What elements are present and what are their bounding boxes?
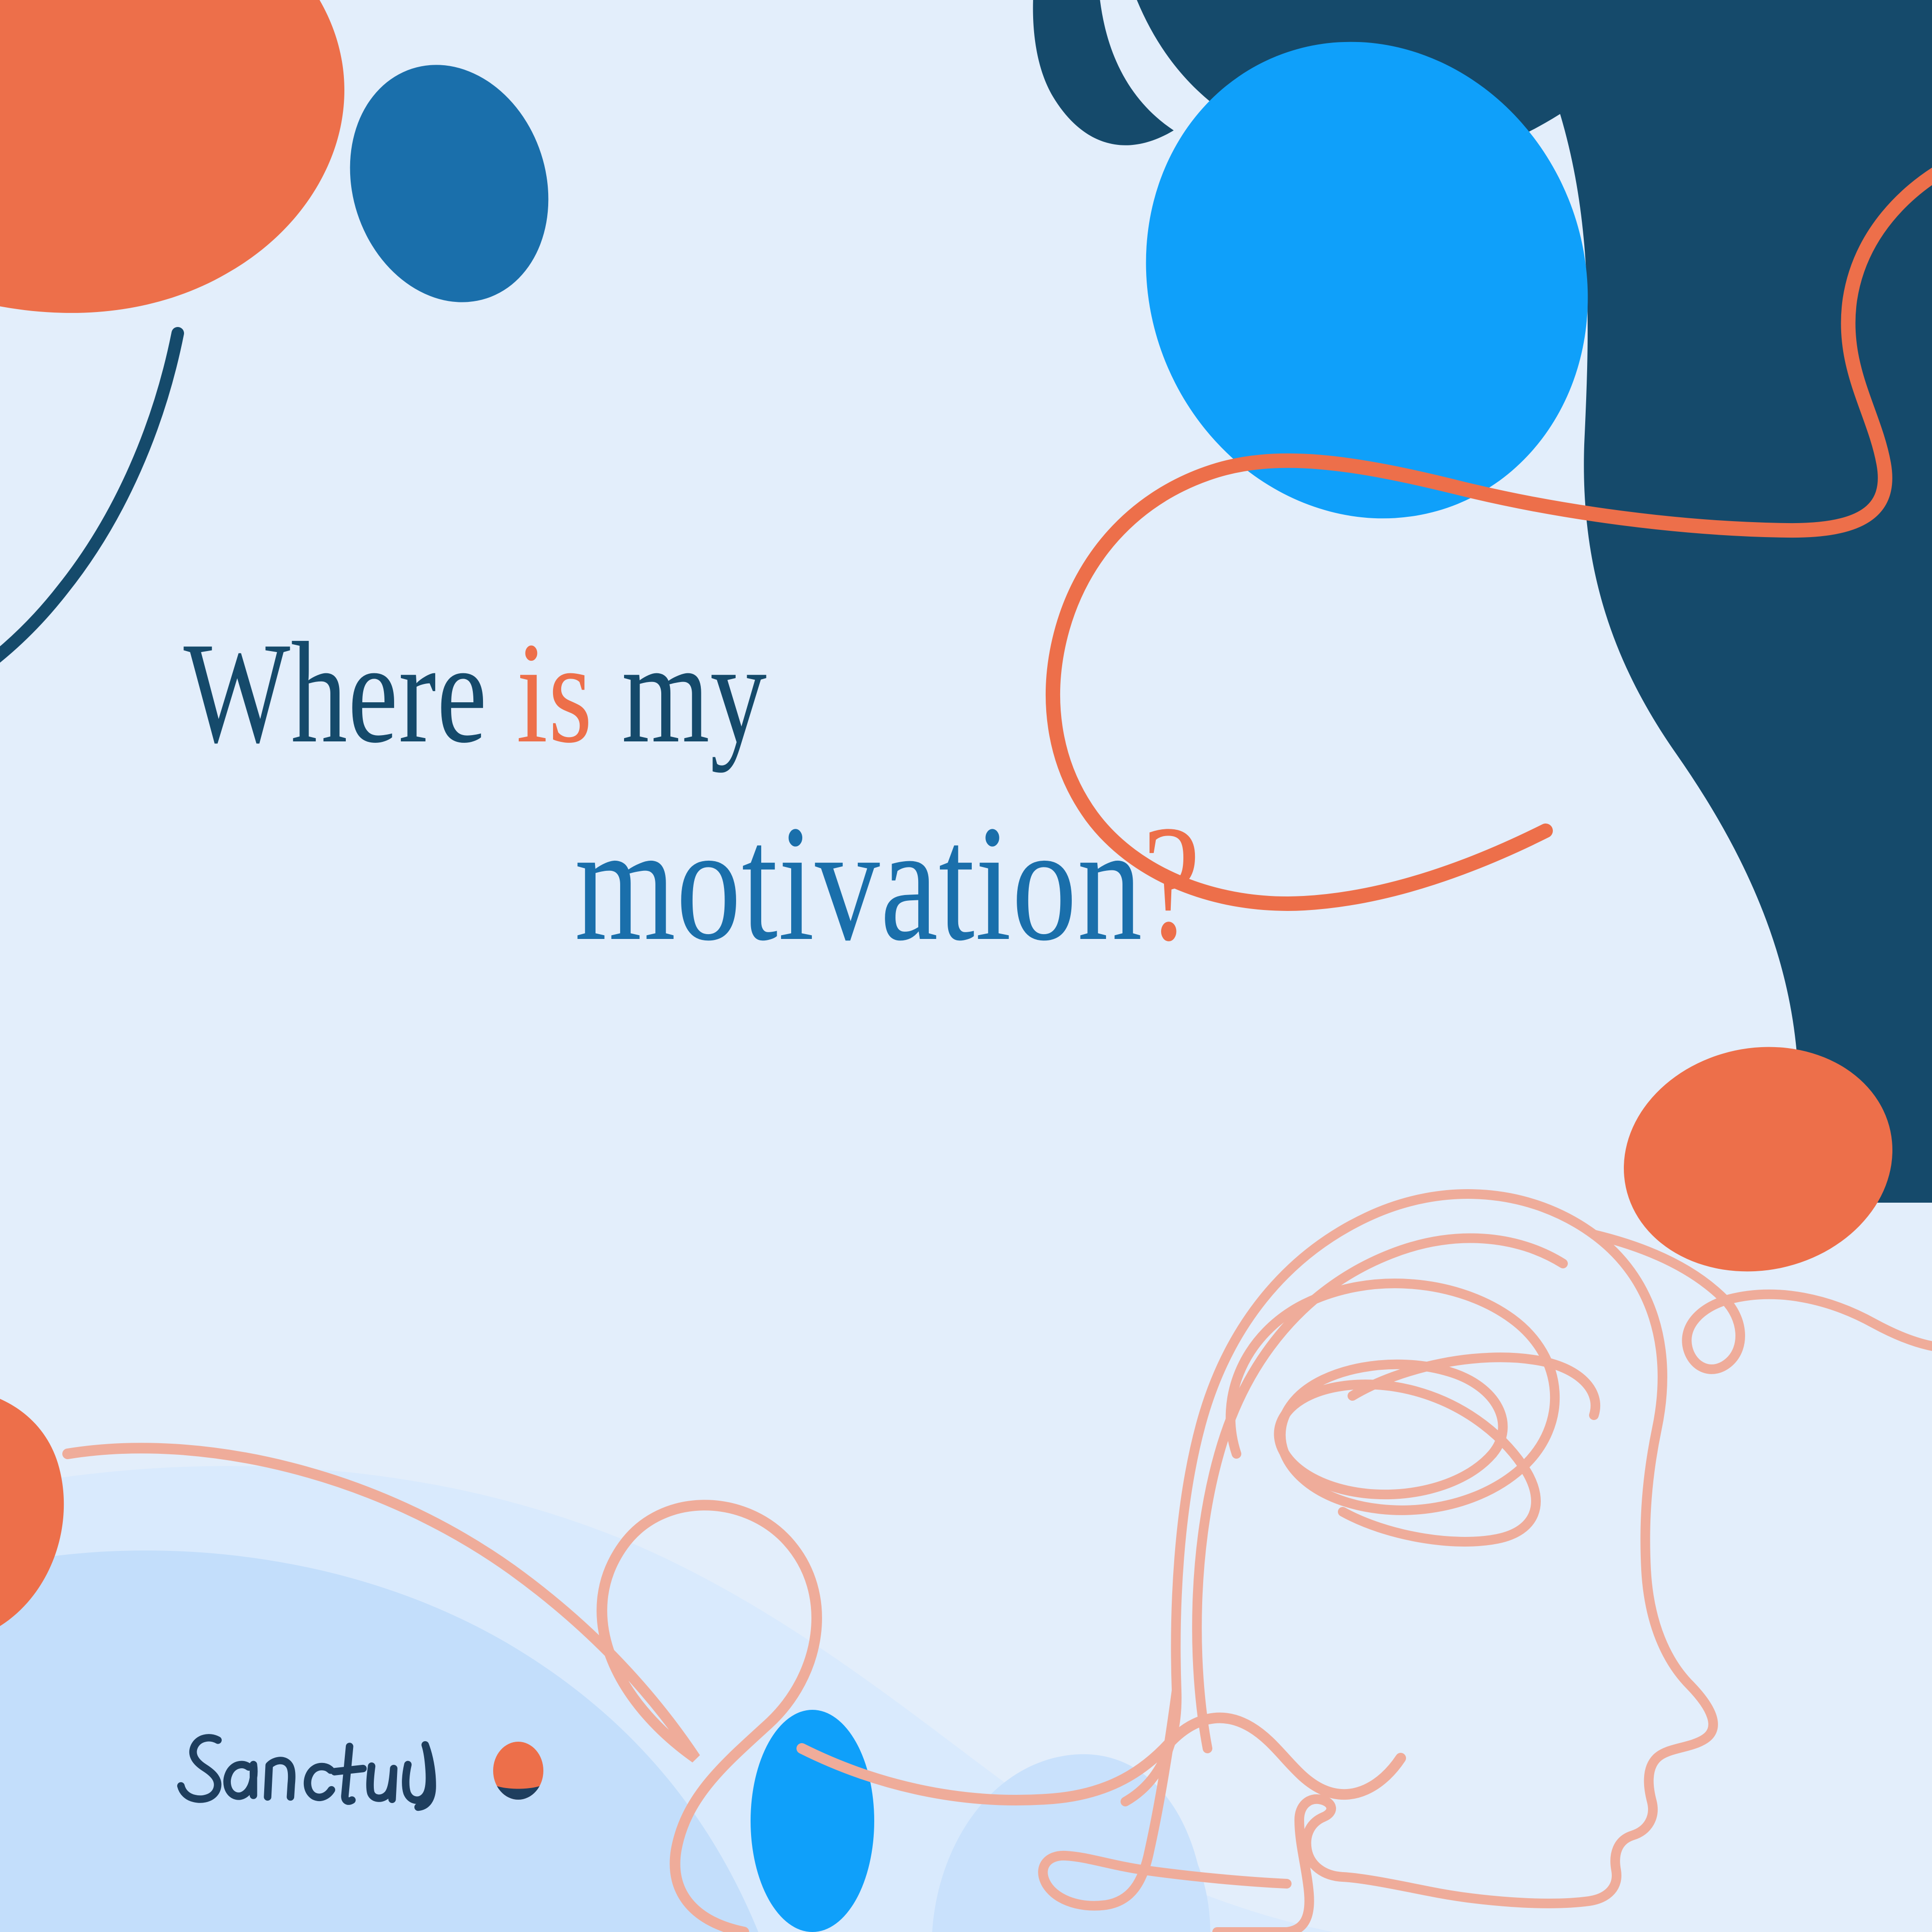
sanctus-sun-dot-icon [489,1738,547,1804]
sanctus-logo[interactable]: Sanctus [171,1729,547,1812]
sanctus-wordmark-text: Sanctus [171,1729,195,1731]
bright-blue-oval-bottom [751,1710,874,1932]
sanctus-wordmark: Sanctus [171,1729,471,1812]
decorative-background-art [0,0,1932,1932]
poster-canvas: Where is my motivation? [0,0,1932,1932]
